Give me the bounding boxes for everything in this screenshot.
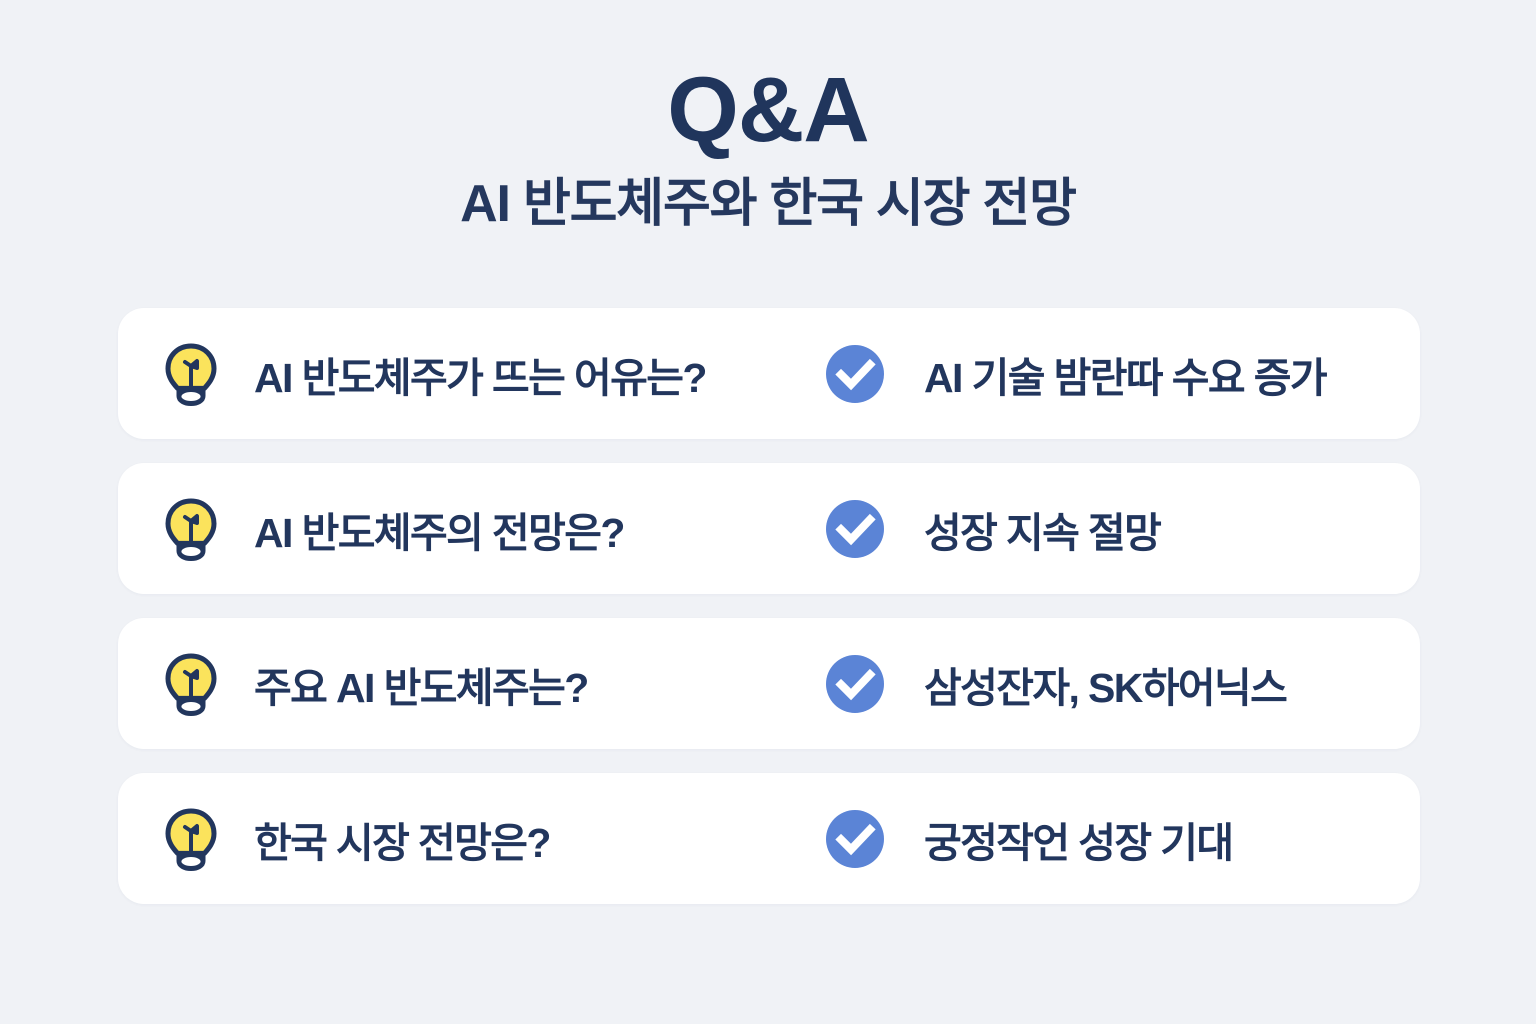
- qa-answer: 궁정작언 성장 기대: [818, 773, 1420, 904]
- lightbulb-icon: [154, 492, 228, 566]
- qa-answer: 성장 지속 절망: [818, 463, 1420, 594]
- check-circle-icon: [818, 647, 892, 721]
- header: Q&A AI 반도체주와 한국 시장 전망: [0, 0, 1536, 235]
- qa-answer-text: 궁정작언 성장 기대: [924, 809, 1233, 869]
- qa-question: AI 반도체주가 뜨는 어유는?: [118, 308, 818, 439]
- lightbulb-icon: [154, 647, 228, 721]
- qa-list: AI 반도체주가 뜨는 어유는? AI 기술 밤란따 수요 증가: [118, 308, 1420, 904]
- qa-answer: AI 기술 밤란따 수요 증가: [818, 308, 1420, 439]
- qa-answer-text: 성장 지속 절망: [924, 499, 1160, 559]
- lightbulb-icon: [154, 337, 228, 411]
- qa-card[interactable]: AI 반도체주의 전망은? 성장 지속 절망: [118, 463, 1420, 594]
- qa-question-text: AI 반도체주의 전망은?: [254, 499, 624, 559]
- check-circle-icon: [818, 492, 892, 566]
- page-subtitle: AI 반도체주와 한국 시장 전망: [0, 173, 1536, 235]
- check-circle-icon: [818, 337, 892, 411]
- qa-question-text: AI 반도체주가 뜨는 어유는?: [254, 344, 706, 404]
- lightbulb-icon: [154, 802, 228, 876]
- qa-card[interactable]: AI 반도체주가 뜨는 어유는? AI 기술 밤란따 수요 증가: [118, 308, 1420, 439]
- qa-slide: Q&A AI 반도체주와 한국 시장 전망 AI 반도체주가 뜨는 어유는?: [0, 0, 1536, 1024]
- qa-question-text: 주요 AI 반도체주는?: [254, 654, 588, 714]
- qa-answer-text: AI 기술 밤란따 수요 증가: [924, 344, 1326, 404]
- qa-answer-text: 삼성잔자, SK하어닉스: [924, 654, 1286, 714]
- qa-card[interactable]: 주요 AI 반도체주는? 삼성잔자, SK하어닉스: [118, 618, 1420, 749]
- check-circle-icon: [818, 802, 892, 876]
- qa-answer: 삼성잔자, SK하어닉스: [818, 618, 1420, 749]
- qa-question: 주요 AI 반도체주는?: [118, 618, 818, 749]
- qa-question: AI 반도체주의 전망은?: [118, 463, 818, 594]
- page-title: Q&A: [0, 62, 1536, 159]
- qa-card[interactable]: 한국 시장 전망은? 궁정작언 성장 기대: [118, 773, 1420, 904]
- qa-question-text: 한국 시장 전망은?: [254, 809, 550, 869]
- qa-question: 한국 시장 전망은?: [118, 773, 818, 904]
